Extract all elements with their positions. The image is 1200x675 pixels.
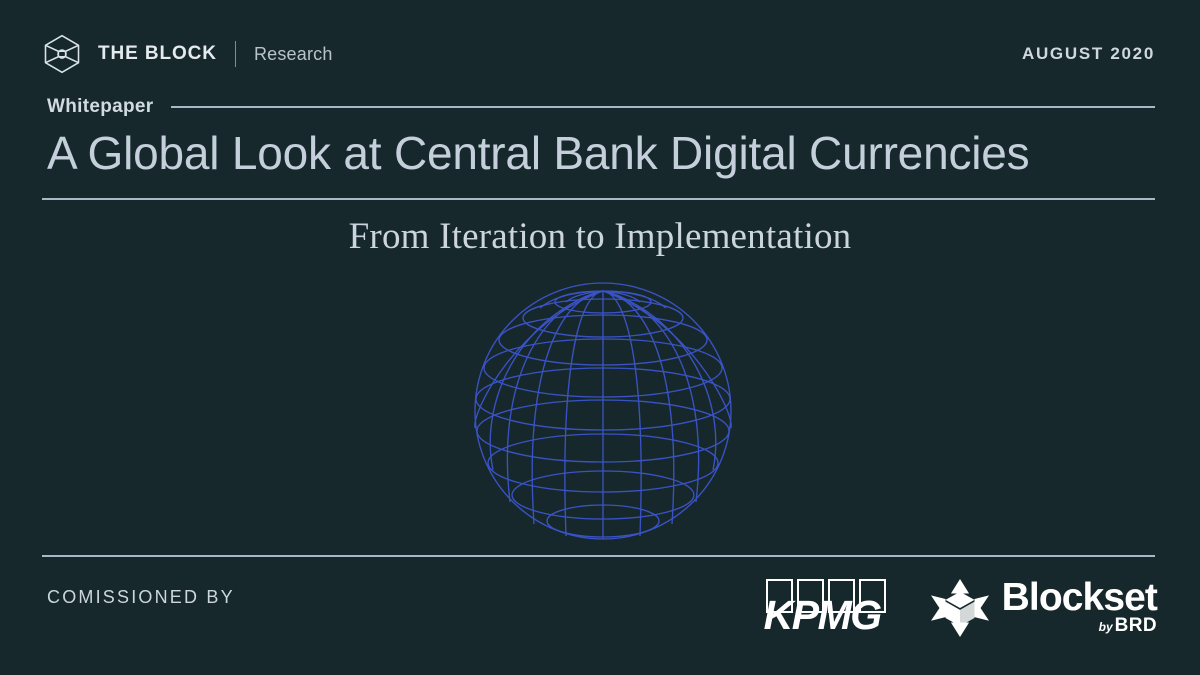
page-title: A Global Look at Central Bank Digital Cu…	[47, 124, 1157, 182]
blockset-byline: by BRD	[1099, 615, 1157, 637]
blockset-wordmark-group: Blockset by BRD	[1002, 579, 1157, 637]
blockset-by-label: by	[1099, 620, 1113, 634]
brand-name: THE BLOCK	[98, 43, 217, 65]
whitepaper-cover-page: THE BLOCK Research AUGUST 2020 Whitepape…	[0, 0, 1200, 675]
sponsor-logos: KPMG	[764, 570, 1157, 645]
commissioned-by-label: COMISSIONED BY	[47, 587, 235, 608]
kicker-row: Whitepaper	[47, 95, 1155, 119]
wireframe-globe-icon	[470, 278, 736, 544]
sponsor-logo-blockset: Blockset by BRD	[931, 579, 1157, 637]
hexagon-cube-logo-icon	[40, 32, 84, 76]
blockset-wordmark: Blockset	[1002, 579, 1157, 617]
page-footer: COMISSIONED BY KPMG	[47, 570, 1157, 645]
divider-above-footer	[42, 555, 1155, 557]
brand-subtitle: Research	[254, 44, 333, 65]
sponsor-logo-kpmg: KPMG	[764, 579, 897, 637]
page-subtitle: From Iteration to Implementation	[0, 211, 1200, 263]
brand-lockup: THE BLOCK Research	[40, 32, 333, 76]
divider-above-subtitle	[42, 198, 1155, 200]
brand-divider	[235, 41, 236, 67]
document-type-label: Whitepaper	[47, 96, 153, 118]
blockset-star-cube-icon	[931, 579, 989, 637]
kpmg-wordmark: KPMG	[764, 593, 881, 637]
blockset-brd-label: BRD	[1115, 615, 1157, 637]
kicker-rule	[171, 106, 1155, 108]
publication-date: AUGUST 2020	[1022, 44, 1155, 64]
page-header: THE BLOCK Research AUGUST 2020	[40, 30, 1155, 78]
